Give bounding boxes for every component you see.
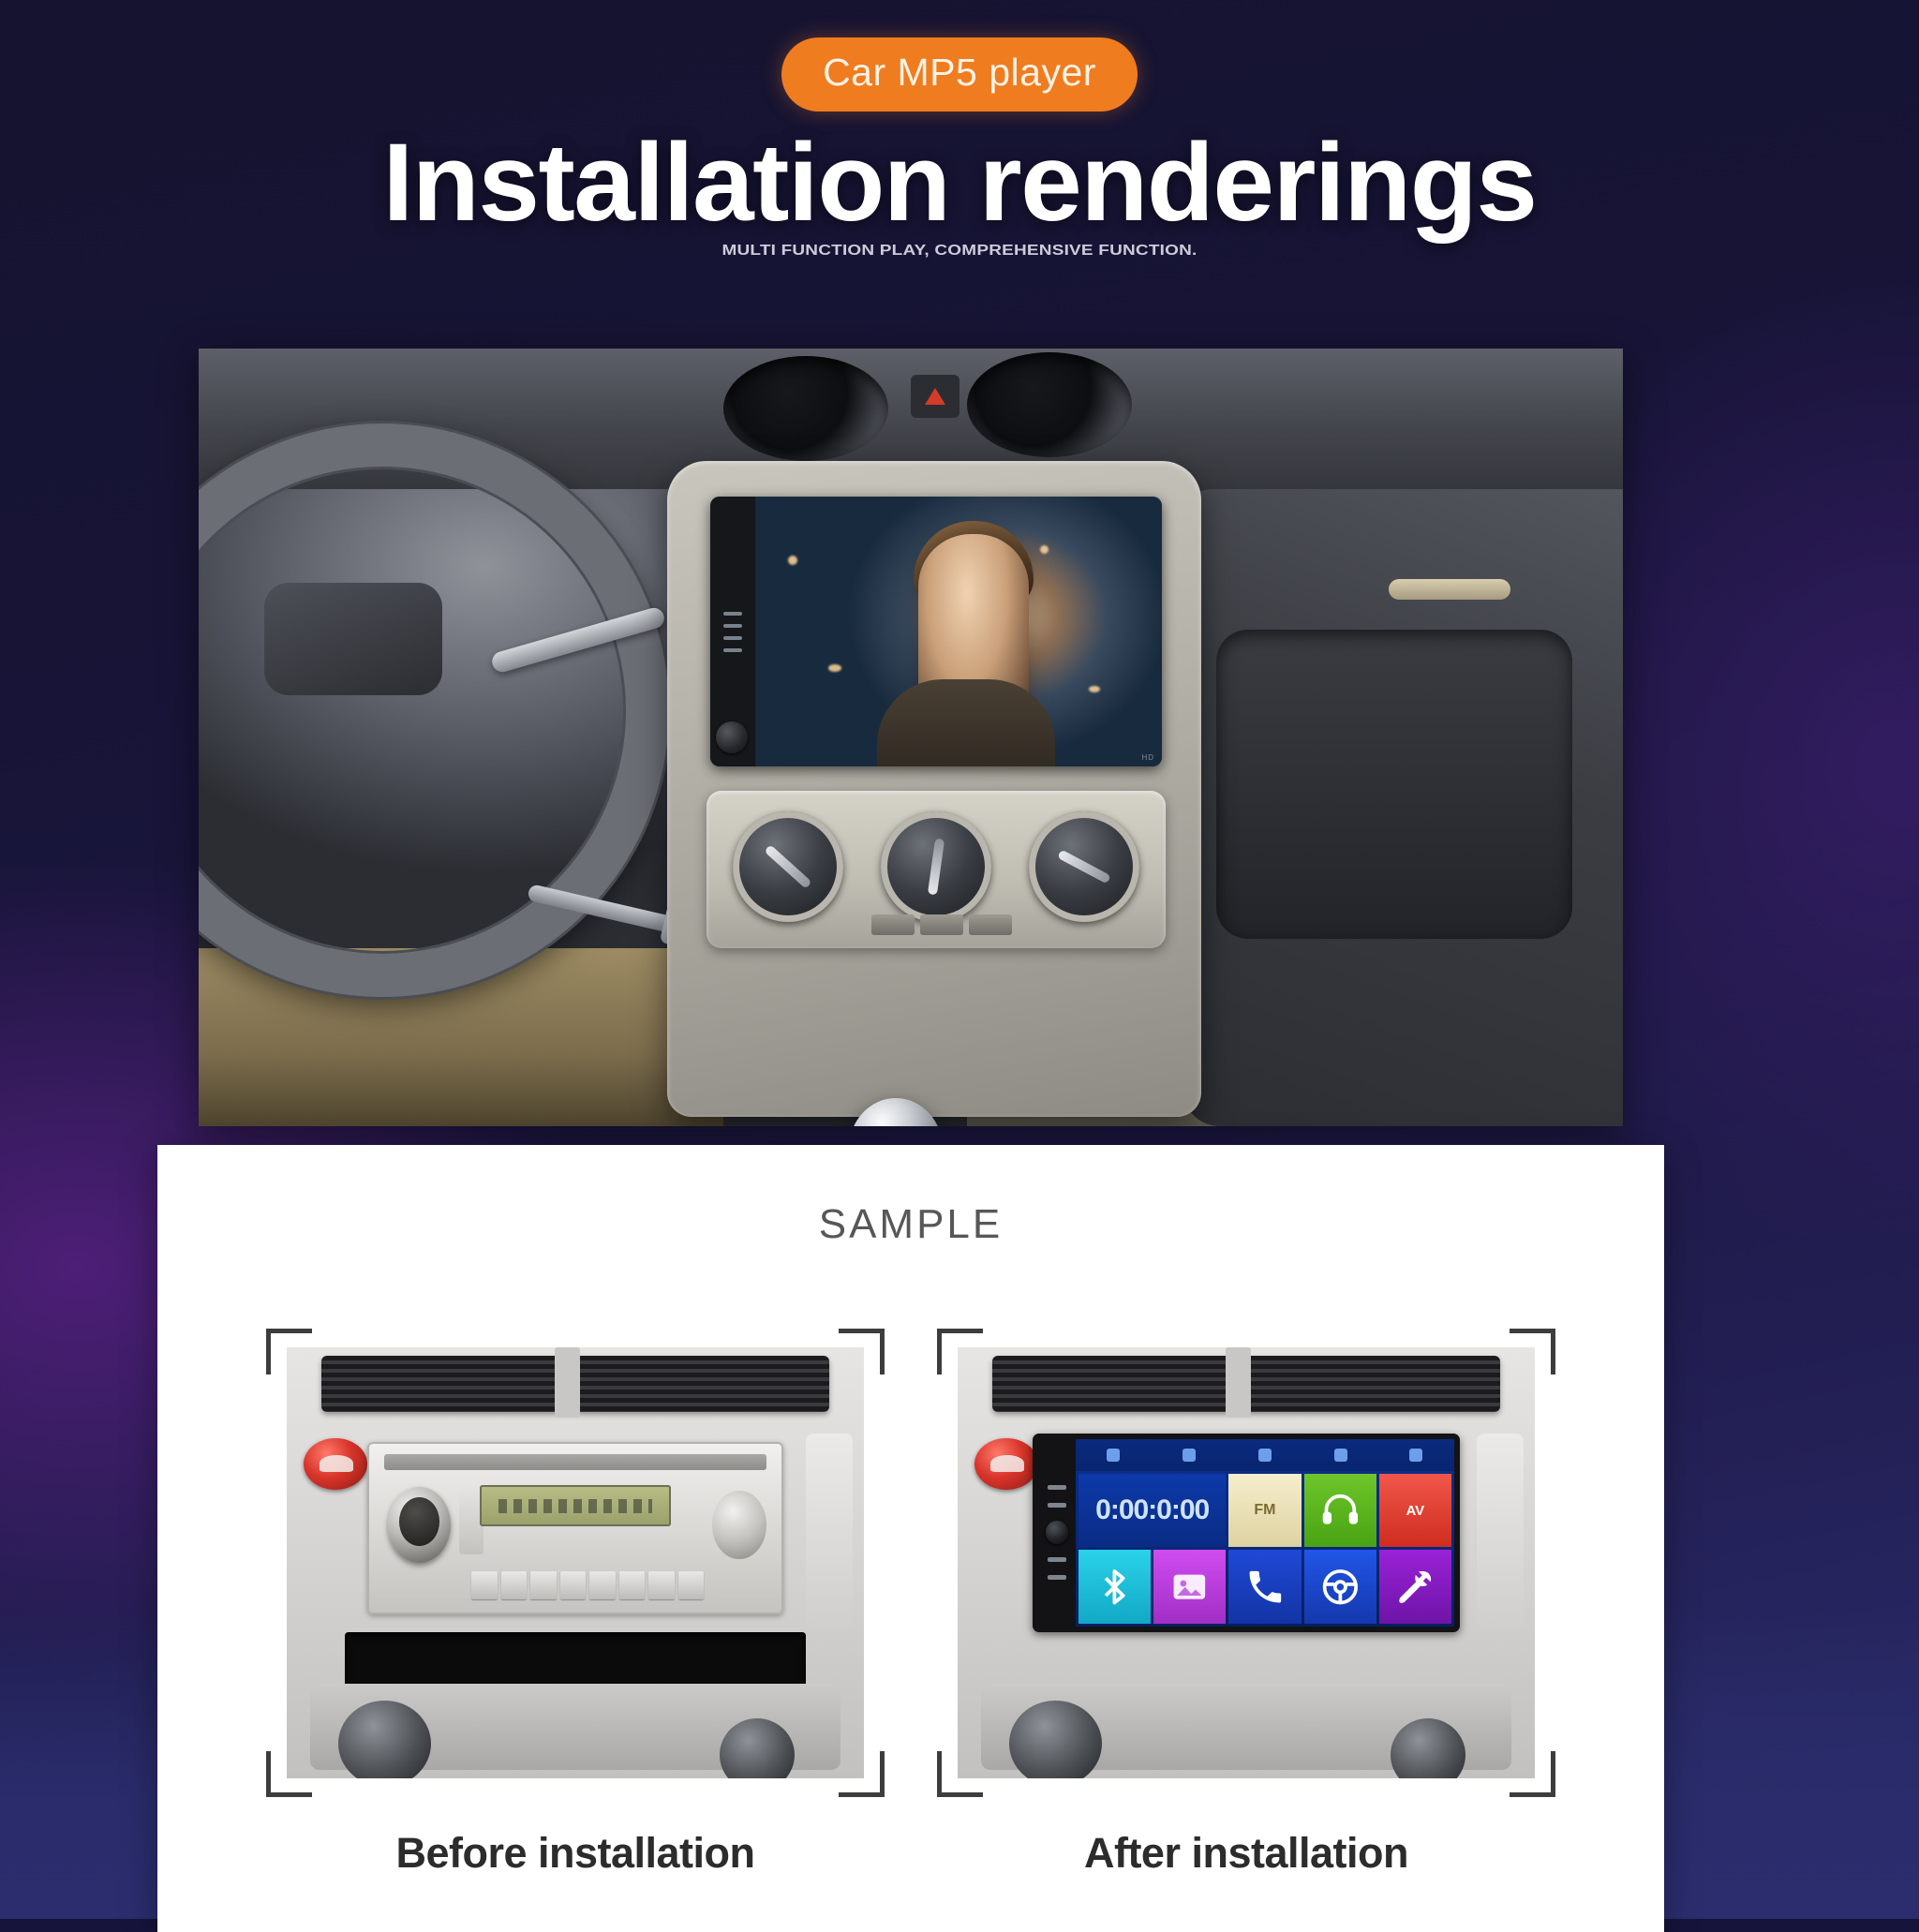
installed-head-unit[interactable]: HD xyxy=(710,497,1162,766)
after-dash-art: 0:00:0:00 FM xyxy=(958,1347,1535,1778)
bluetooth-icon xyxy=(1093,1566,1136,1608)
climate-temperature-dial[interactable] xyxy=(733,811,843,922)
radio-tile[interactable]: FM xyxy=(1228,1474,1301,1547)
touchscreen-button-column[interactable] xyxy=(1038,1439,1076,1627)
head-unit-button-4[interactable] xyxy=(723,648,742,652)
spark-4 xyxy=(1089,686,1100,692)
touchscreen-head-unit[interactable]: 0:00:0:00 FM xyxy=(1033,1434,1460,1632)
spark-2 xyxy=(828,664,841,672)
head-unit-display[interactable]: HD xyxy=(755,497,1162,766)
cd-preset-8[interactable] xyxy=(678,1571,705,1598)
ts-button-2[interactable] xyxy=(1048,1503,1067,1508)
air-vent-left-icon xyxy=(723,356,888,461)
screen-watermark: HD xyxy=(1141,753,1154,762)
hazard-light-button[interactable] xyxy=(911,375,959,418)
steering-wheel-hub xyxy=(264,583,442,695)
cd-preset-1[interactable] xyxy=(471,1571,498,1598)
home-tile-grid: 0:00:0:00 FM xyxy=(1076,1471,1454,1627)
hazard-triangle-icon xyxy=(925,388,945,405)
navigation-tile[interactable] xyxy=(1304,1550,1376,1623)
passenger-side-panel xyxy=(1183,489,1623,1126)
cd-preset-4[interactable] xyxy=(560,1571,587,1598)
poster-background: Car MP5 player Installation renderings M… xyxy=(0,0,1919,1919)
product-badge: Car MP5 player xyxy=(781,37,1138,111)
video-tile-label: AV xyxy=(1406,1503,1424,1519)
climate-button-3[interactable] xyxy=(969,914,1012,935)
after-photo-frame: 0:00:0:00 FM xyxy=(937,1329,1555,1797)
bluetooth-tile[interactable] xyxy=(1079,1550,1151,1623)
headphones-icon xyxy=(1319,1489,1361,1531)
climate-button-1[interactable] xyxy=(871,914,915,935)
dash-trim-strip xyxy=(1389,579,1510,600)
climate-control-panel[interactable] xyxy=(707,791,1166,948)
photo-tile[interactable] xyxy=(1153,1550,1226,1623)
bluetooth-icon xyxy=(1258,1449,1272,1462)
page-title: Installation renderings xyxy=(0,126,1919,239)
air-vent-right-icon xyxy=(967,352,1132,457)
ts-button-1[interactable] xyxy=(1048,1485,1067,1490)
comparison-row: Before installation xyxy=(157,1329,1664,1878)
head-unit-button-3[interactable] xyxy=(723,636,742,640)
gear-shifter xyxy=(840,1098,952,1126)
head-unit-button-1[interactable] xyxy=(723,612,742,616)
spark-1 xyxy=(788,556,797,565)
status-bar xyxy=(1076,1439,1454,1471)
poster-header: Car MP5 player Installation renderings M… xyxy=(0,0,1919,261)
hazard-button-red-icon xyxy=(974,1438,1038,1490)
cd-lcd-display xyxy=(480,1485,671,1526)
ts-button-3[interactable] xyxy=(1048,1557,1067,1562)
climate-button-row[interactable] xyxy=(871,914,1012,935)
touchscreen-display[interactable]: 0:00:0:00 FM xyxy=(1076,1439,1454,1627)
after-installation-photo: 0:00:0:00 FM xyxy=(958,1347,1535,1778)
hazard-button-red-icon xyxy=(304,1438,367,1490)
music-tile[interactable] xyxy=(1304,1474,1376,1547)
before-shot: Before installation xyxy=(266,1329,885,1878)
before-dash-art xyxy=(287,1347,864,1778)
settings-tile[interactable] xyxy=(1379,1550,1451,1623)
sample-label: SAMPLE xyxy=(157,1145,1664,1248)
head-unit-button-2[interactable] xyxy=(723,624,742,628)
lower-dial-left xyxy=(338,1701,431,1778)
gallery-icon xyxy=(1168,1566,1211,1608)
defroster-vent-grille xyxy=(992,1356,1500,1412)
cd-preset-3[interactable] xyxy=(530,1571,557,1598)
battery-icon xyxy=(1409,1449,1422,1462)
defroster-vent-grille xyxy=(321,1356,829,1412)
clock-widget[interactable]: 0:00:0:00 xyxy=(1079,1474,1226,1547)
phone-icon xyxy=(1244,1566,1287,1608)
movie-character-body xyxy=(877,679,1055,766)
after-caption: After installation xyxy=(937,1829,1555,1878)
phone-tile[interactable] xyxy=(1228,1550,1301,1623)
page-subtitle: MULTI FUNCTION PLAY, COMPREHENSIVE FUNCT… xyxy=(0,243,1919,260)
after-shot: 0:00:0:00 FM xyxy=(937,1329,1555,1878)
video-tile[interactable]: AV xyxy=(1379,1474,1451,1547)
dash-side-column xyxy=(1477,1434,1523,1632)
cd-preset-2[interactable] xyxy=(501,1571,528,1598)
tools-icon xyxy=(1394,1566,1436,1608)
cd-preset-7[interactable] xyxy=(648,1571,675,1598)
center-console-bezel: HD xyxy=(667,461,1201,1117)
cd-volume-knob[interactable] xyxy=(388,1487,451,1563)
head-unit-button-column[interactable] xyxy=(710,497,755,766)
before-photo-frame xyxy=(266,1329,885,1797)
ts-power-knob[interactable] xyxy=(1046,1521,1069,1544)
before-caption: Before installation xyxy=(266,1829,885,1878)
wifi-icon xyxy=(1183,1449,1196,1462)
phone-icon xyxy=(1334,1449,1347,1462)
climate-button-2[interactable] xyxy=(920,914,963,935)
cd-preset-button-row[interactable] xyxy=(471,1571,704,1598)
shifter-knob xyxy=(849,1098,943,1126)
dash-side-column xyxy=(806,1434,852,1632)
steering-wheel-icon xyxy=(1319,1566,1361,1608)
before-installation-photo xyxy=(287,1347,864,1778)
sample-comparison-panel: SAMPLE xyxy=(157,1145,1664,1932)
clock-time-label: 0:00:0:00 xyxy=(1095,1494,1209,1525)
factory-cd-radio[interactable] xyxy=(367,1442,783,1614)
climate-mode-dial[interactable] xyxy=(881,811,991,922)
cd-preset-5[interactable] xyxy=(589,1571,616,1598)
signal-icon xyxy=(1107,1449,1120,1462)
climate-fan-dial[interactable] xyxy=(1029,811,1139,922)
cd-preset-6[interactable] xyxy=(619,1571,646,1598)
cd-insert-slot[interactable] xyxy=(384,1454,766,1470)
ts-button-4[interactable] xyxy=(1048,1575,1067,1580)
spark-3 xyxy=(1040,545,1049,554)
hero-installation-photo: HD xyxy=(199,349,1623,1126)
lower-dial-left xyxy=(1009,1701,1102,1778)
cd-tune-knob[interactable] xyxy=(712,1491,766,1560)
head-unit-volume-knob[interactable] xyxy=(716,721,748,753)
radio-tile-label: FM xyxy=(1254,1502,1275,1519)
